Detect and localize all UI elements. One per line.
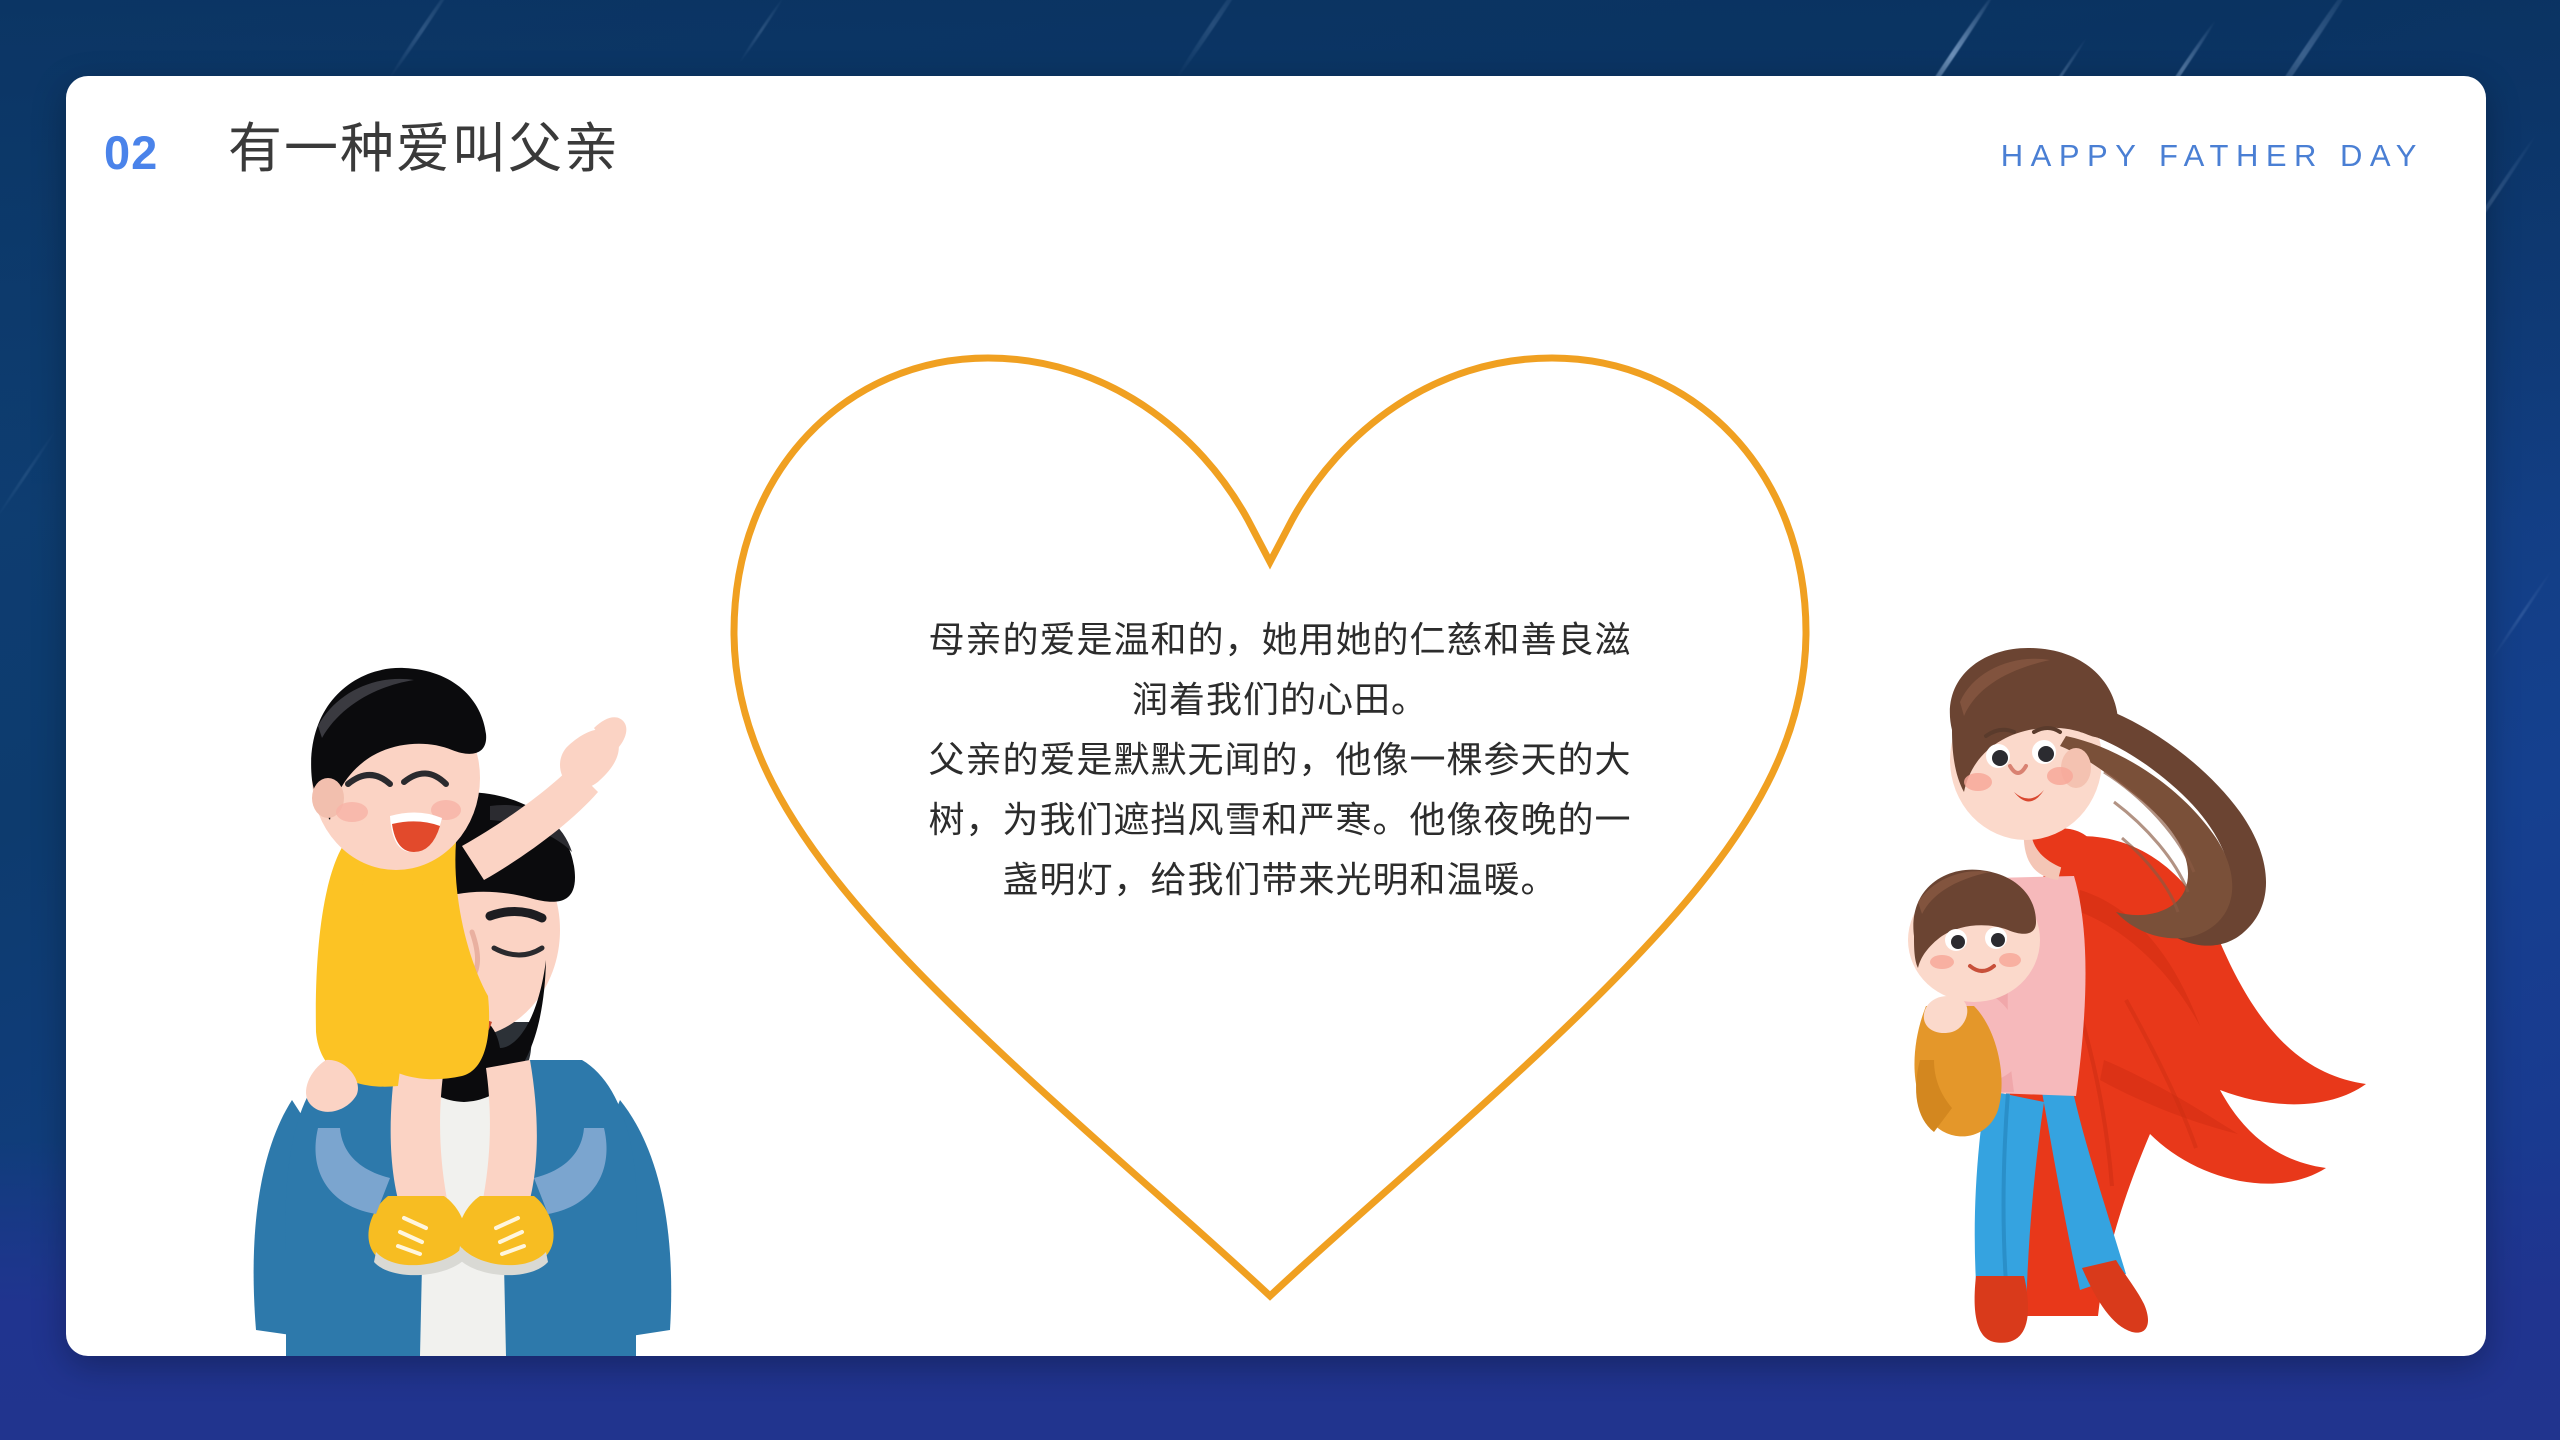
page-title: 有一种爱叫父亲 [228, 122, 620, 176]
body-paragraph: 母亲的爱是温和的，她用她的仁慈和善良滋润着我们的心田。 父亲的爱是默默无闻的，他… [920, 610, 1640, 910]
slide-root: 02 有一种爱叫父亲 HAPPY FATHER DAY 母亲的爱是温和的，她用她… [0, 0, 2560, 1440]
mother-holding-baby-illustration [1890, 640, 2410, 1356]
tagline: HAPPY FATHER DAY [2001, 140, 2424, 171]
section-number: 02 [104, 129, 158, 176]
father-carrying-son-illustration [200, 630, 720, 1356]
